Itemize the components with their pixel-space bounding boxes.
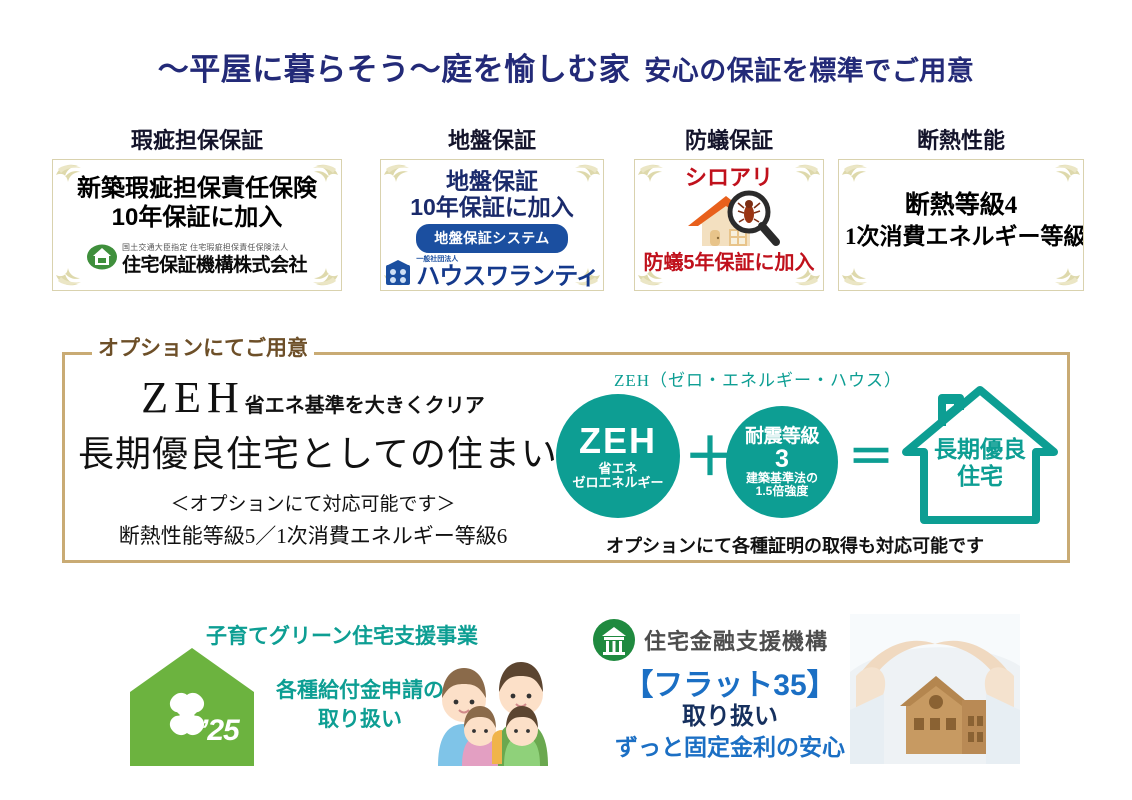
option-panel-tag: オプションにてご用意: [92, 332, 314, 362]
card-body-termite: シロアリ: [641, 166, 817, 274]
page-title-sub: 安心の保証を標準でご用意: [644, 56, 974, 86]
house-warranty-text: 一般社団法人 ハウスワランティ: [416, 256, 599, 289]
seismic-circle-note1: 建築基準法の: [746, 472, 818, 485]
ornament-corner-icon: [1048, 255, 1082, 289]
jio-logo-name: 住宅保証機構株式会社: [122, 255, 307, 276]
house-shield-icon: [87, 244, 117, 270]
jhf-org-name: 住宅金融支援機構: [644, 624, 828, 656]
card-line-2: 防蟻5年保証に加入: [641, 252, 817, 274]
long-life-housing-headline: 長期優良住宅としての住まい: [78, 425, 548, 477]
card-frame-termite: シロアリ: [634, 159, 824, 291]
guarantee-card-defect: 瑕疵担保保証 新築瑕疵担保責任保険 10年保証に加入 国土交通大臣指定 住宅瑕疵…: [52, 128, 342, 291]
zeh-acronym: ZEH: [141, 373, 245, 422]
page-title: 〜平屋に暮らそう〜庭を愉しむ家安心の保証を標準でご用意: [0, 44, 1132, 89]
zeh-circle-sub2: ゼロエネルギー: [572, 476, 663, 490]
warranty-house-icon: [385, 260, 411, 286]
ground-system-badge-wrap: 地盤保証システム: [387, 224, 597, 253]
equals-operator-icon: ＝: [848, 434, 894, 480]
long-life-house-badge: 長期優良 住宅: [896, 380, 1064, 530]
green-housing-year-badge: ’25: [200, 714, 239, 748]
jhf-logo-icon: [592, 618, 636, 662]
page-title-main: 〜平屋に暮らそう〜庭を愉しむ家: [158, 52, 631, 87]
zeh-note: 省エネ基準を大きくクリア: [245, 395, 485, 417]
certification-footer-note: オプションにて各種証明の取得も対応可能です: [606, 532, 984, 558]
zeh-circle-sub1: 省エネ: [598, 462, 637, 476]
green-housing-subsidy-line2: 取り扱い: [270, 705, 450, 734]
ground-system-badge: 地盤保証システム: [416, 224, 568, 253]
card-frame-insulation: 断熱等級4 1次消費エネルギー等級4: [838, 159, 1084, 291]
guarantee-card-insulation: 断熱性能 断熱等級4 1次消費エネルギー等級4: [838, 128, 1084, 291]
house-label-line1: 長期優良: [896, 436, 1064, 463]
seismic-circle-grade: 3: [775, 447, 789, 472]
jio-logo-text: 国土交通大臣指定 住宅瑕疵担保責任保険法人 住宅保証機構株式会社: [122, 237, 307, 276]
family-illustration: [428, 648, 556, 768]
card-line-1: 新築瑕疵担保責任保険: [61, 174, 333, 203]
seismic-grade-circle: 耐震等級 3 建築基準法の 1.5倍強度: [726, 406, 838, 518]
house-label-line2: 住宅: [896, 463, 1064, 490]
card-line-2: 10年保証に加入: [387, 194, 597, 221]
house-warranty-logo: 一般社団法人 ハウスワランティ: [387, 256, 597, 289]
zeh-equation-diagram: ZEH（ゼロ・エネルギー・ハウス） ZEH 省エネ ゼロエネルギー ＋ 耐震等級…: [556, 366, 1076, 556]
card-frame-defect: 新築瑕疵担保責任保険 10年保証に加入 国土交通大臣指定 住宅瑕疵担保責任保険法…: [52, 159, 342, 291]
flat35-tagline: ずっと固定金利の安心: [592, 728, 868, 762]
seismic-circle-label: 耐震等級: [745, 427, 819, 447]
option-availability-note: ＜オプションにて対応可能です＞: [78, 489, 548, 516]
jio-logo-caption: 国土交通大臣指定 住宅瑕疵担保責任保険法人: [122, 243, 288, 252]
zeh-caption: ZEH（ゼロ・エネルギー・ハウス）: [614, 366, 902, 391]
card-title-termite: 防蟻保証: [634, 128, 824, 154]
card-line-2: 10年保証に加入: [61, 203, 333, 232]
green-housing-logo-icon: [128, 646, 256, 768]
guarantee-card-ground: 地盤保証 地盤保証 10年保証に加入 地盤保証システム 一般社団法人 ハウスワラ…: [380, 128, 604, 291]
ornament-corner-icon: [840, 255, 874, 289]
jio-logo: 国土交通大臣指定 住宅瑕疵担保責任保険法人 住宅保証機構株式会社: [61, 237, 333, 276]
card-line-1: 断熱等級4: [845, 190, 1077, 222]
flat35-handling-label: 取り扱い: [610, 696, 850, 731]
house-warranty-name: ハウスワランティ: [416, 264, 599, 289]
zeh-circle: ZEH 省エネ ゼロエネルギー: [556, 394, 680, 518]
card-frame-ground: 地盤保証 10年保証に加入 地盤保証システム 一般社団法人 ハウスワランティ: [380, 159, 604, 291]
card-line-1: シロアリ: [641, 166, 817, 190]
house-badge-labels: 長期優良 住宅: [896, 436, 1064, 490]
promo-flat35: 住宅金融支援機構 【フラット35】 取り扱い ずっと固定金利の安心: [592, 612, 1012, 780]
card-title-defect: 瑕疵担保保証: [52, 128, 342, 154]
card-line-1: 地盤保証: [387, 168, 597, 194]
seismic-circle-note2: 1.5倍強度: [756, 485, 809, 498]
green-housing-subsidy-note: 各種給付金申請の 取り扱い: [270, 676, 450, 734]
card-line-2: 1次消費エネルギー等級4: [845, 222, 1077, 252]
card-body-insulation: 断熱等級4 1次消費エネルギー等級4: [845, 190, 1077, 252]
card-body-defect: 新築瑕疵担保責任保険 10年保証に加入 国土交通大臣指定 住宅瑕疵担保責任保険法…: [61, 174, 333, 276]
guarantee-card-termite: 防蟻保証 シロアリ: [634, 128, 824, 291]
insulation-grade-note: 断熱性能等級5／1次消費エネルギー等級6: [78, 520, 548, 550]
zeh-circle-title: ZEH: [579, 422, 657, 460]
termite-inspection-illustration: [641, 190, 817, 252]
zeh-headline-row: ZEH省エネ基準を大きくクリア: [78, 372, 548, 423]
card-title-insulation: 断熱性能: [838, 128, 1084, 154]
promo-green-housing: 子育てグリーン住宅支援事業 ’25 各種給付金申請の 取り扱い: [128, 620, 548, 780]
green-housing-subsidy-line1: 各種給付金申請の: [270, 676, 450, 705]
card-body-ground: 地盤保証 10年保証に加入 地盤保証システム 一般社団法人 ハウスワランティ: [387, 168, 597, 289]
hands-protecting-house-illustration: [850, 614, 1020, 764]
card-title-ground: 地盤保証: [380, 128, 604, 154]
option-panel-left: ZEH省エネ基準を大きくクリア 長期優良住宅としての住まい ＜オプションにて対応…: [78, 372, 548, 550]
